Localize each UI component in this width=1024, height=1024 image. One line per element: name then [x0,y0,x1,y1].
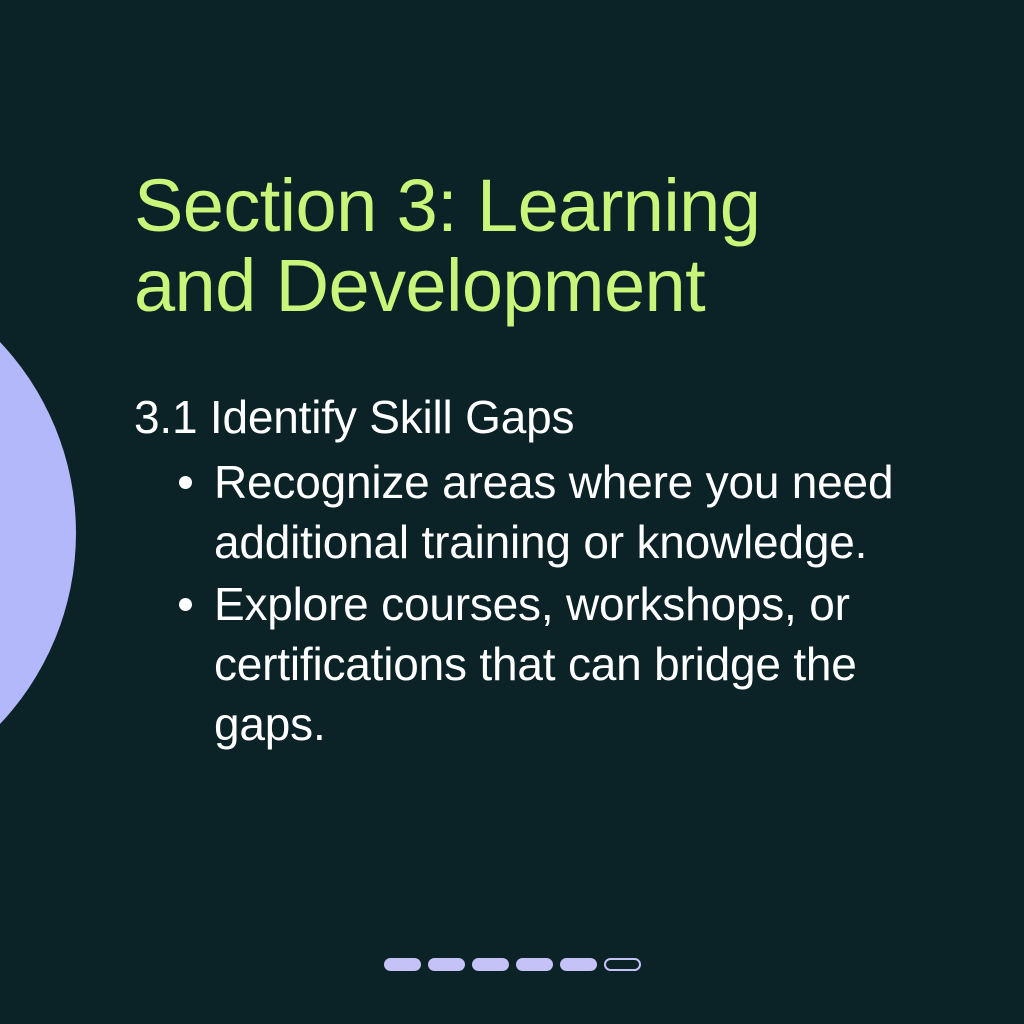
pagination-pill-1[interactable] [384,958,421,971]
pagination-pill-5[interactable] [560,958,597,971]
list-item: Explore courses, workshops, or certifica… [134,574,954,754]
pagination-pill-2[interactable] [428,958,465,971]
bullet-list: Recognize areas where you need additiona… [134,452,954,754]
slide-body: 3.1 Identify Skill Gaps Recognize areas … [134,388,954,754]
pagination-indicator[interactable] [0,958,1024,971]
list-item-label: Explore courses, workshops, or certifica… [214,578,857,750]
page-title: Section 3: Learning and Development [134,166,864,326]
slide-canvas: Section 3: Learning and Development 3.1 … [0,0,1024,1024]
list-item-label: Recognize areas where you need additiona… [214,456,893,568]
pagination-pill-3[interactable] [472,958,509,971]
bullet-dot-icon [179,476,192,489]
bullet-dot-icon [179,598,192,611]
pagination-pill-6[interactable] [604,958,641,971]
slide-content: Section 3: Learning and Development 3.1 … [134,166,954,756]
list-item: Recognize areas where you need additiona… [134,452,954,572]
section-subheading: 3.1 Identify Skill Gaps [134,388,954,446]
pagination-pill-4[interactable] [516,958,553,971]
decorative-circle [0,255,76,811]
